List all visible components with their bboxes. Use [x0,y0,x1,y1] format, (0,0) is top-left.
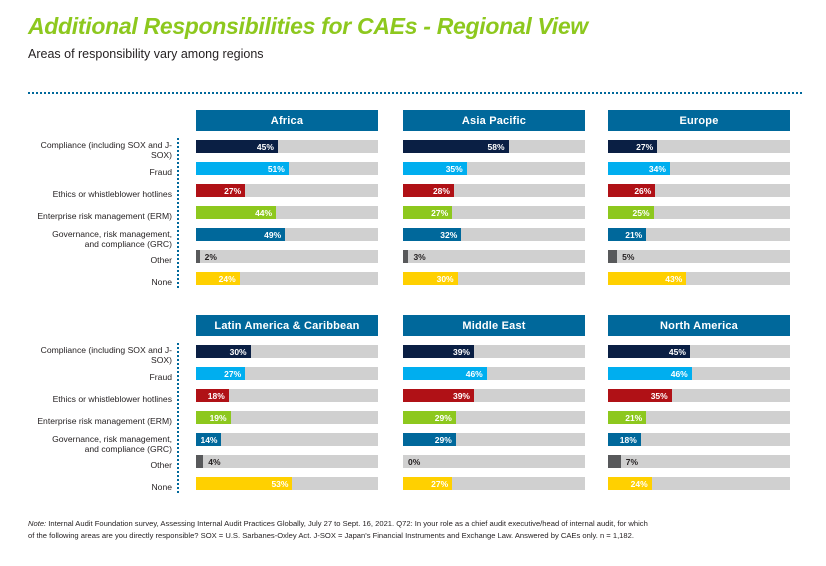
bar-value-label: 34% [649,162,666,175]
category-labels-row-2: Compliance (including SOX and J-SOX)Frau… [22,345,172,499]
category-label: Other [22,250,172,272]
category-label: Governance, risk management,and complian… [22,433,172,455]
bar-value-label: 3% [413,250,425,263]
chart-row-2: Compliance (including SOX and J-SOX)Frau… [0,315,826,500]
bar-value-label: 30% [230,345,247,358]
bar-track: 18% [608,433,790,446]
bar-track: 27% [196,367,378,380]
bar-track: 18% [196,389,378,402]
bar-track: 24% [196,272,378,285]
bar-track: 43% [608,272,790,285]
infographic-page: Additional Responsibilities for CAEs - R… [0,0,826,566]
category-label-line: Governance, risk management, [52,434,172,444]
bar-group: 30%27%18%19%14%4%53% [196,345,378,490]
bar-track: 45% [608,345,790,358]
bar-track: 29% [403,411,585,424]
bar-track: 2% [196,250,378,263]
bar-value-label: 4% [208,455,220,468]
category-label: Fraud [22,162,172,184]
category-label-line: Other [151,256,173,266]
bar-track: 39% [403,389,585,402]
bar-group: 27%34%26%25%21%5%43% [608,140,790,285]
bar-value-label: 7% [626,455,638,468]
bar-group: 39%46%39%29%29%0%27% [403,345,585,490]
bar-value-label: 19% [210,411,227,424]
bar-value-label: 30% [437,272,454,285]
bar-track: 51% [196,162,378,175]
panel-title: Latin America & Caribbean [196,315,378,336]
bar-track: 46% [608,367,790,380]
bar-value-label: 39% [453,345,470,358]
bar-fill [608,455,621,468]
bar-track: 21% [608,411,790,424]
footnote-prefix: Note: [28,519,46,528]
category-axis-divider-row-1 [177,138,179,288]
bar-track: 34% [608,162,790,175]
bar-track: 21% [608,228,790,241]
bar-value-label: 46% [466,367,483,380]
category-label: Other [22,455,172,477]
bar-fill [196,250,200,263]
bar-track: 58% [403,140,585,153]
bar-track: 39% [403,345,585,358]
category-label-line: Enterprise risk management (ERM) [37,212,172,222]
bar-value-label: 28% [433,184,450,197]
bar-value-label: 27% [224,184,241,197]
panel-title: Europe [608,110,790,131]
bar-track: 4% [196,455,378,468]
bar-value-label: 2% [205,250,217,263]
bar-value-label: 46% [671,367,688,380]
panel-title: Middle East [403,315,585,336]
bar-group: 45%51%27%44%49%2%24% [196,140,378,285]
bar-track: 24% [608,477,790,490]
footnote: Note: Internal Audit Foundation survey, … [28,518,648,542]
bar-track: 32% [403,228,585,241]
bar-value-label: 18% [620,433,637,446]
panel-europe: Europe27%34%26%25%21%5%43% [608,110,790,285]
bar-value-label: 14% [200,433,217,446]
bar-value-label: 25% [632,206,649,219]
bar-value-label: 26% [634,184,651,197]
bar-value-label: 51% [268,162,285,175]
header-divider [28,92,802,96]
bar-value-label: 0% [408,455,420,468]
category-label: Ethics or whistleblower hotlines [22,389,172,411]
category-label: None [22,272,172,294]
bar-fill [403,250,408,263]
bar-value-label: 29% [435,411,452,424]
bar-value-label: 24% [631,477,648,490]
footnote-text: Internal Audit Foundation survey, Assess… [28,519,648,540]
bar-track: 30% [196,345,378,358]
bar-value-label: 58% [488,140,505,153]
bar-value-label: 5% [622,250,634,263]
panel-title: Asia Pacific [403,110,585,131]
category-label: Ethics or whistleblower hotlines [22,184,172,206]
category-label-line: and compliance (GRC) [85,239,172,249]
bar-value-label: 18% [208,389,225,402]
category-label-line: Enterprise risk management (ERM) [37,417,172,427]
bar-value-label: 27% [636,140,653,153]
bar-track: 27% [608,140,790,153]
category-axis-divider-row-2 [177,343,179,493]
panel-title: North America [608,315,790,336]
panel-title: Africa [196,110,378,131]
bar-track: 44% [196,206,378,219]
category-label-line: Governance, risk management, [52,229,172,239]
bar-track: 3% [403,250,585,263]
category-label: Governance, risk management,and complian… [22,228,172,250]
category-label-line: and compliance (GRC) [85,444,172,454]
panel-africa: Africa45%51%27%44%49%2%24% [196,110,378,285]
bar-value-label: 53% [271,477,288,490]
bar-value-label: 45% [257,140,274,153]
bar-group: 58%35%28%27%32%3%30% [403,140,585,285]
bar-track: 46% [403,367,585,380]
category-label-line: Compliance (including SOX and J-SOX) [22,141,172,161]
bar-track: 5% [608,250,790,263]
bar-track: 27% [196,184,378,197]
bar-track: 7% [608,455,790,468]
bar-value-label: 27% [431,206,448,219]
category-label-line: None [151,278,172,288]
bar-track: 35% [403,162,585,175]
category-label: Fraud [22,367,172,389]
bar-track: 53% [196,477,378,490]
category-label: Compliance (including SOX and J-SOX) [22,345,172,367]
panel-north-america: North America45%46%35%21%18%7%24% [608,315,790,490]
bar-track: 27% [403,477,585,490]
header: Additional Responsibilities for CAEs - R… [28,14,798,62]
panel-latin-america-caribbean: Latin America & Caribbean30%27%18%19%14%… [196,315,378,490]
bar-track: 26% [608,184,790,197]
bar-value-label: 43% [665,272,682,285]
bar-value-label: 29% [435,433,452,446]
bar-group: 45%46%35%21%18%7%24% [608,345,790,490]
bar-track: 28% [403,184,585,197]
category-label-line: Ethics or whistleblower hotlines [53,190,172,200]
bar-value-label: 49% [264,228,281,241]
bar-track: 35% [608,389,790,402]
bar-track: 45% [196,140,378,153]
bar-fill [608,250,617,263]
bar-track: 25% [608,206,790,219]
bar-fill [196,455,203,468]
category-label-line: Ethics or whistleblower hotlines [53,395,172,405]
bar-value-label: 35% [446,162,463,175]
bar-track: 29% [403,433,585,446]
category-labels-row-1: Compliance (including SOX and J-SOX)Frau… [22,140,172,294]
bar-track: 14% [196,433,378,446]
category-label-line: None [151,483,172,493]
bar-value-label: 27% [224,367,241,380]
bar-value-label: 27% [431,477,448,490]
bar-value-label: 21% [625,411,642,424]
bar-value-label: 39% [453,389,470,402]
panel-asia-pacific: Asia Pacific58%35%28%27%32%3%30% [403,110,585,285]
bar-track: 27% [403,206,585,219]
bar-track: 30% [403,272,585,285]
category-label-line: Fraud [150,168,172,178]
page-subtitle: Areas of responsibility vary among regio… [28,47,798,62]
bar-value-label: 24% [219,272,236,285]
bar-value-label: 45% [669,345,686,358]
page-title: Additional Responsibilities for CAEs - R… [28,14,798,39]
category-label-line: Other [151,461,173,471]
category-label: None [22,477,172,499]
bar-track: 49% [196,228,378,241]
category-label: Compliance (including SOX and J-SOX) [22,140,172,162]
bar-track: 19% [196,411,378,424]
bar-value-label: 21% [625,228,642,241]
bar-value-label: 44% [255,206,272,219]
bar-value-label: 32% [440,228,457,241]
category-label-line: Fraud [150,373,172,383]
bar-track: 0% [403,455,585,468]
bar-value-label: 35% [651,389,668,402]
panel-middle-east: Middle East39%46%39%29%29%0%27% [403,315,585,490]
chart-row-1: Compliance (including SOX and J-SOX)Frau… [0,110,826,295]
category-label: Enterprise risk management (ERM) [22,411,172,433]
category-label-line: Compliance (including SOX and J-SOX) [22,346,172,366]
category-label: Enterprise risk management (ERM) [22,206,172,228]
